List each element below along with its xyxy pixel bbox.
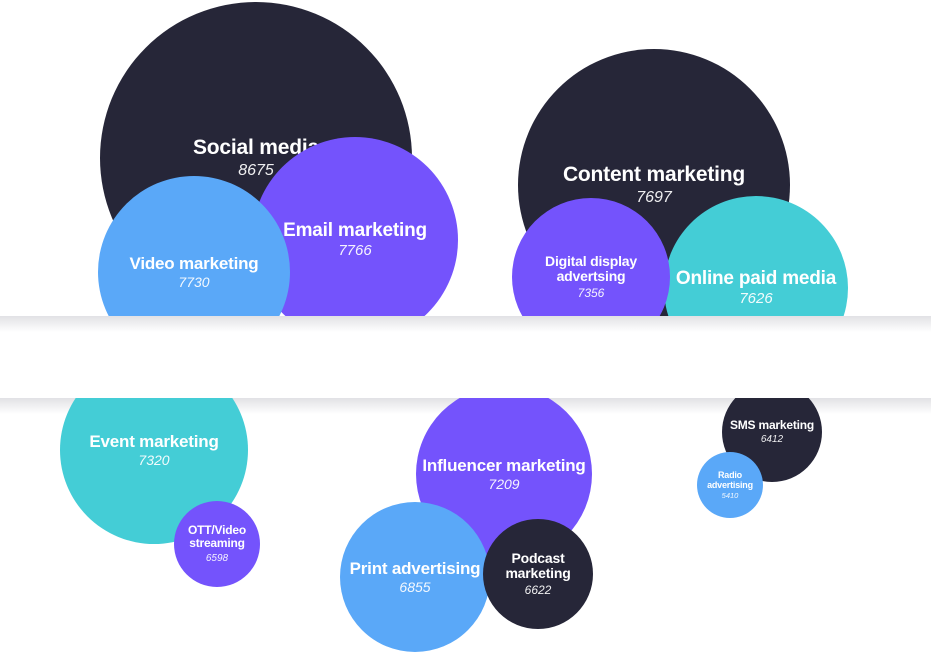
bubble-row-top: Social media8675Email marketing7766Video…	[0, 0, 931, 316]
bubble[interactable]: Print advertising6855	[340, 502, 490, 652]
bubble-value: 6622	[525, 584, 552, 597]
bubble-label: Radio advertising	[697, 470, 763, 490]
bubble[interactable]: OTT/Video streaming6598	[174, 501, 260, 587]
bubble-value: 5410	[722, 492, 739, 500]
bubble-label: OTT/Video streaming	[174, 524, 260, 551]
bubble-label: Event marketing	[83, 432, 224, 451]
shelf-shadow-top	[0, 316, 931, 332]
bubble-label: Video marketing	[124, 254, 265, 273]
bubble-label: Email marketing	[277, 220, 433, 241]
bubble-value: 7320	[138, 453, 169, 469]
bubble-value: 7730	[178, 275, 209, 291]
bubble-value: 6412	[761, 434, 783, 445]
bubble-label: Online paid media	[670, 268, 842, 289]
bubble[interactable]: Radio advertising5410	[697, 452, 763, 518]
bubble-label: SMS marketing	[724, 419, 820, 432]
bubble-value: 7356	[578, 287, 605, 300]
bubble-label: Digital display advertsing	[512, 254, 670, 285]
bubble-label: Podcast marketing	[483, 551, 593, 582]
bubble-label: Print advertising	[344, 559, 487, 578]
bubble-value: 6598	[206, 553, 228, 564]
bubble-row-bottom: Event marketing7320Influencer marketing7…	[0, 398, 931, 669]
bubble-value: 7766	[338, 243, 371, 260]
bubble-label: Influencer marketing	[416, 456, 591, 475]
bubble-label: Content marketing	[557, 163, 751, 187]
bubble-value: 7209	[488, 477, 519, 493]
bubble-value: 6855	[399, 580, 430, 596]
bubble-chart: Social media8675Email marketing7766Video…	[0, 0, 931, 669]
bubble-value: 8675	[238, 162, 274, 180]
bubble[interactable]: Podcast marketing6622	[483, 519, 593, 629]
bubble-value: 7626	[739, 291, 772, 308]
bubble-value: 7697	[636, 189, 672, 207]
